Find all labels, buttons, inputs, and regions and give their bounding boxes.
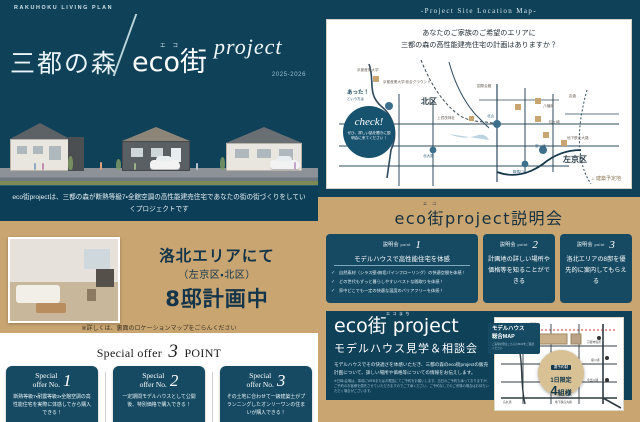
offer-card-3[interactable]: Special offer No. 3 その土地に合わせて一級建築士がプランニン… <box>220 366 312 422</box>
briefing-ruby: エコ <box>423 201 441 207</box>
event-info: エコまち eco街 project モデルハウス見学＆相談会 モデルハウスでその… <box>334 317 490 394</box>
event-eco-ruby: エコまち <box>386 312 412 316</box>
briefing-point-3-word: point <box>594 242 604 247</box>
card-divider <box>212 372 213 422</box>
offer-card-1-head: Special offer No. 1 <box>11 372 93 389</box>
badge-top-text: 要予約制 <box>551 365 571 370</box>
badge-mid-text: 1日限定 <box>538 375 584 384</box>
mini-map-label-5: 今出川通 <box>587 378 598 382</box>
house-1 <box>10 123 70 171</box>
year-range: 2025-2026 <box>272 72 306 78</box>
offer-title-pre: Special offer <box>97 346 162 360</box>
person <box>100 162 102 170</box>
map-label-11: 地下鉄北大路 <box>567 136 589 141</box>
offer-card-3-body: その土地に合わせて一級建築士がプランニングしたオンリーワンの住まいが購入できる！ <box>225 394 307 417</box>
special-offer-title: Special offer 3 POINT <box>0 337 318 366</box>
person <box>34 163 36 170</box>
eco-ruby: エコ <box>160 41 185 49</box>
briefing-point-1-item-1: 自然素材（シラス壁・無垢パインフローリング）の快適空間を体感！ <box>331 270 473 276</box>
person <box>42 163 44 170</box>
tree <box>116 159 121 170</box>
right-page: -Project Site Location Map- あなたのご家族のご希望の… <box>318 0 640 422</box>
map-canvas: 北区 左京区 京都産業大学 京都産業大学 総合グラウンド 上賀茂神社 大宮 北山… <box>327 54 631 188</box>
briefing-point-2-number: 2 <box>532 239 538 251</box>
ward-label-sakyo: 左京区 <box>563 154 587 165</box>
mini-map-label-4: 烏丸通 <box>503 400 511 404</box>
briefing-point-2-body: 計画地の詳しい場所や価格等を知ることができる <box>488 255 550 288</box>
brochure-spread: RAKUHOKU LIVING PLAN 三都の森 エコ eco街 projec… <box>0 0 640 422</box>
tree <box>68 156 73 170</box>
briefing-point-2-label: 説明会 <box>500 242 516 248</box>
person <box>134 163 136 170</box>
location-map-card: あなたのご家族のご希望のエリアに 三都の森の高性能建売住宅の計画はありますか？ <box>326 19 632 189</box>
houses-illustration <box>0 85 318 185</box>
logo-row: 三都の森 エコ eco街 <box>10 14 207 76</box>
interior-photo <box>8 237 120 323</box>
area-subline: （左京区・北区） <box>124 266 310 281</box>
area-section: 洛北エリアにて （左京区・北区） 8邸計画中 ※詳しくは、裏面のロケーションマッ… <box>0 221 318 333</box>
map-label-4: 北山 <box>487 114 494 119</box>
card-divider <box>105 372 106 422</box>
brand-line: RAKUHOKU LIVING PLAN <box>14 5 113 11</box>
home-icon: ⌂ 建築予定地 <box>592 175 621 182</box>
offer-card-2-body: 一定期間モデルハウスとして公開後、特別価格で購入できる！ <box>118 394 200 409</box>
badge-unit: 組様 <box>558 390 572 397</box>
hero-header: RAKUHOKU LIVING PLAN 三都の森 エコ eco街 projec… <box>0 0 318 185</box>
briefing-point-1-subtitle: モデルハウスで高性能住宅を体感 <box>334 254 470 266</box>
offer-card-1[interactable]: Special offer No. 1 断熱等級7・耐震等級3・全館空調の高性能… <box>6 366 98 422</box>
briefing-point-2-head: 説明会 point 2 <box>488 239 550 251</box>
area-note: ※詳しくは、裏面のロケーションマップをごらんください <box>0 323 318 332</box>
map-question-line2: 三都の森の高性能建売住宅の計画はありますか？ <box>401 41 557 49</box>
briefing-point-1-number: 1 <box>415 239 421 251</box>
briefing-point-3-body: 洛北エリアの8邸を優先的に案内してもらえる <box>565 255 627 288</box>
offer-card-2-label-2: offer No. <box>140 380 167 389</box>
offer-card-1-number: 1 <box>63 372 72 389</box>
atta-sub: という方は <box>347 96 369 101</box>
map-label-7: 宝ヶ池 <box>535 144 546 149</box>
map-label-9: 岩倉 <box>569 94 576 99</box>
briefing-point-3-head: 説明会 point 3 <box>565 239 627 251</box>
reservation-badge: 要予約制 1日限定 4組様 <box>538 350 584 396</box>
modelhouse-map-title2: 総合MAP <box>492 334 536 342</box>
check-word: check! <box>343 117 395 128</box>
event-band: エコまち eco街 project モデルハウス見学＆相談会 モデルハウスでその… <box>326 311 632 400</box>
location-map-block: -Project Site Location Map- あなたのご家族のご希望の… <box>318 0 640 197</box>
home-legend: 建築予定地 <box>596 176 621 182</box>
check-sub: ぜひ、詳しい話を聞きに説明会に来てください！ <box>343 131 395 142</box>
briefing-point-1-item-2: どの世代もずっと暮らしやすいベストな間取りを体感！ <box>331 279 473 285</box>
person <box>196 163 198 170</box>
briefing-point-1-word: point <box>400 242 410 247</box>
briefing-point-1[interactable]: 説明会 point 1 モデルハウスで高性能住宅を体感 自然素材（シラス壁・無垢… <box>326 234 478 303</box>
event-eco-title-wrap: エコまち eco街 project <box>334 317 490 336</box>
briefing-point-3[interactable]: 説明会 point 3 洛北エリアの8邸を優先的に案内してもらえる <box>560 234 632 303</box>
offer-card-1-body: 断熱等級7・耐震等級3・全館空調の高性能住宅を実際に体感してから購入できる！ <box>11 394 93 417</box>
briefing-point-3-label: 説明会 <box>577 242 593 248</box>
offer-title-number: 3 <box>165 341 181 362</box>
person <box>294 162 296 170</box>
offer-card-2[interactable]: Special offer No. 2 一定期間モデルハウスとして公開後、特別価… <box>113 366 205 422</box>
plan-count: 8邸計画中 <box>124 283 310 313</box>
atta-callout: あった！ という方は <box>347 88 369 101</box>
location-map-title: -Project Site Location Map- <box>326 4 632 19</box>
briefing-point-1-head: 説明会 point 1 <box>331 239 473 251</box>
map-question: あなたのご家族のご希望のエリアに 三都の森の高性能建売住宅の計画はありますか？ <box>327 20 631 53</box>
event-description: モデルハウスでその快適さを体感いただき、三都の森のeco街projectの販売計… <box>334 361 490 376</box>
map-label-1: 京都産業大学 総合グラウンド <box>383 80 431 85</box>
map-label-0: 京都産業大学 <box>357 68 379 73</box>
briefing-point-1-item-3: 家中どこでも一定の快適な温度のバリアフリーを体感！ <box>331 288 473 294</box>
map-label-2: 上賀茂神社 <box>437 116 455 121</box>
briefing-section: エコ eco街project説明会 説明会 point 1 モデルハウスで高性能… <box>318 197 640 311</box>
event-eco-title: eco街 project <box>334 315 459 337</box>
offer-card-2-number: 2 <box>170 372 179 389</box>
briefing-point-2[interactable]: 説明会 point 2 計画地の詳しい場所や価格等を知ることができる <box>483 234 555 303</box>
event-subtitle: モデルハウス見学＆相談会 <box>334 340 490 356</box>
briefing-points: 説明会 point 1 モデルハウスで高性能住宅を体感 自然素材（シラス壁・無垢… <box>326 234 632 303</box>
offer-card-3-number: 3 <box>277 372 286 389</box>
eco-logo: エコ eco街 <box>132 49 207 76</box>
area-text: 洛北エリアにて （左京区・北区） 8邸計画中 <box>120 248 310 313</box>
mini-map-label-3: 堀川通 <box>591 358 599 362</box>
offer-card-1-label-2: offer No. <box>33 380 60 389</box>
map-label-5: 北大路 <box>423 154 434 159</box>
mini-map-label-1: 地下鉄烏丸線 <box>555 400 572 404</box>
offer-card-3-head: Special offer No. 3 <box>225 372 307 389</box>
grass-strip <box>0 181 318 185</box>
car <box>150 160 180 169</box>
map-label-8: 八幡前 <box>543 104 554 109</box>
offer-title-post: POINT <box>184 346 221 360</box>
badge-count: 4 <box>550 383 557 398</box>
briefing-title-wrap: エコ eco街project説明会 <box>326 202 632 234</box>
project-word: project <box>214 34 283 60</box>
map-label-12: 国際会館 <box>477 84 491 89</box>
badge-number: 4組様 <box>538 384 584 397</box>
map-label-6: 鞍馬口 <box>513 170 524 175</box>
special-offer-section: Special offer 3 POINT Special offer No. … <box>0 333 318 422</box>
check-bubble[interactable]: check! ぜひ、詳しい話を聞きに説明会に来てください！ <box>343 106 395 158</box>
briefing-point-3-number: 3 <box>609 239 615 251</box>
offer-card-2-head: Special offer No. 2 <box>118 372 200 389</box>
modelhouse-map-fine: ご来場の際はこちらのMAPをご確認ください <box>492 343 536 350</box>
mini-map-label-2: 京都市役所 <box>587 340 601 344</box>
eco-word: eco街 <box>132 49 207 76</box>
modelhouse-map-card[interactable]: モデルハウス 総合MAP ご来場の際はこちらのMAPをご確認ください <box>488 323 540 353</box>
offer-cards: Special offer No. 1 断熱等級7・耐震等級3・全館空調の高性能… <box>0 366 318 422</box>
event-map-area: 北大路通 地下鉄烏丸線 京都市役所 堀川通 烏丸通 今出川通 モデルハウス 御所… <box>496 317 624 394</box>
event-fineprint: ※日時・会場は、事前にWEBまたはお電話にてご予約をお願いします。当日のご予約も… <box>334 379 490 394</box>
logo-japanese: 三都の森 <box>10 51 118 76</box>
tagline-banner: eco街projectは、三都の森が断熱等級7・全館空調の高性能建売住宅であなた… <box>0 185 318 221</box>
offer-card-3-label-2: offer No. <box>247 380 274 389</box>
map-label-10: 松ヶ崎 <box>549 120 560 125</box>
area-headline: 洛北エリアにて <box>124 248 310 265</box>
modelhouse-map-title: モデルハウス <box>492 326 536 334</box>
ward-label-kita: 北区 <box>421 96 437 107</box>
briefing-point-1-label: 説明会 <box>383 242 399 248</box>
left-page: RAKUHOKU LIVING PLAN 三都の森 エコ eco街 projec… <box>0 0 318 422</box>
tree <box>220 157 225 170</box>
map-question-line1: あなたのご家族のご希望のエリアに <box>422 29 536 37</box>
briefing-title: eco街project説明会 <box>395 209 564 228</box>
briefing-point-2-word: point <box>517 242 527 247</box>
